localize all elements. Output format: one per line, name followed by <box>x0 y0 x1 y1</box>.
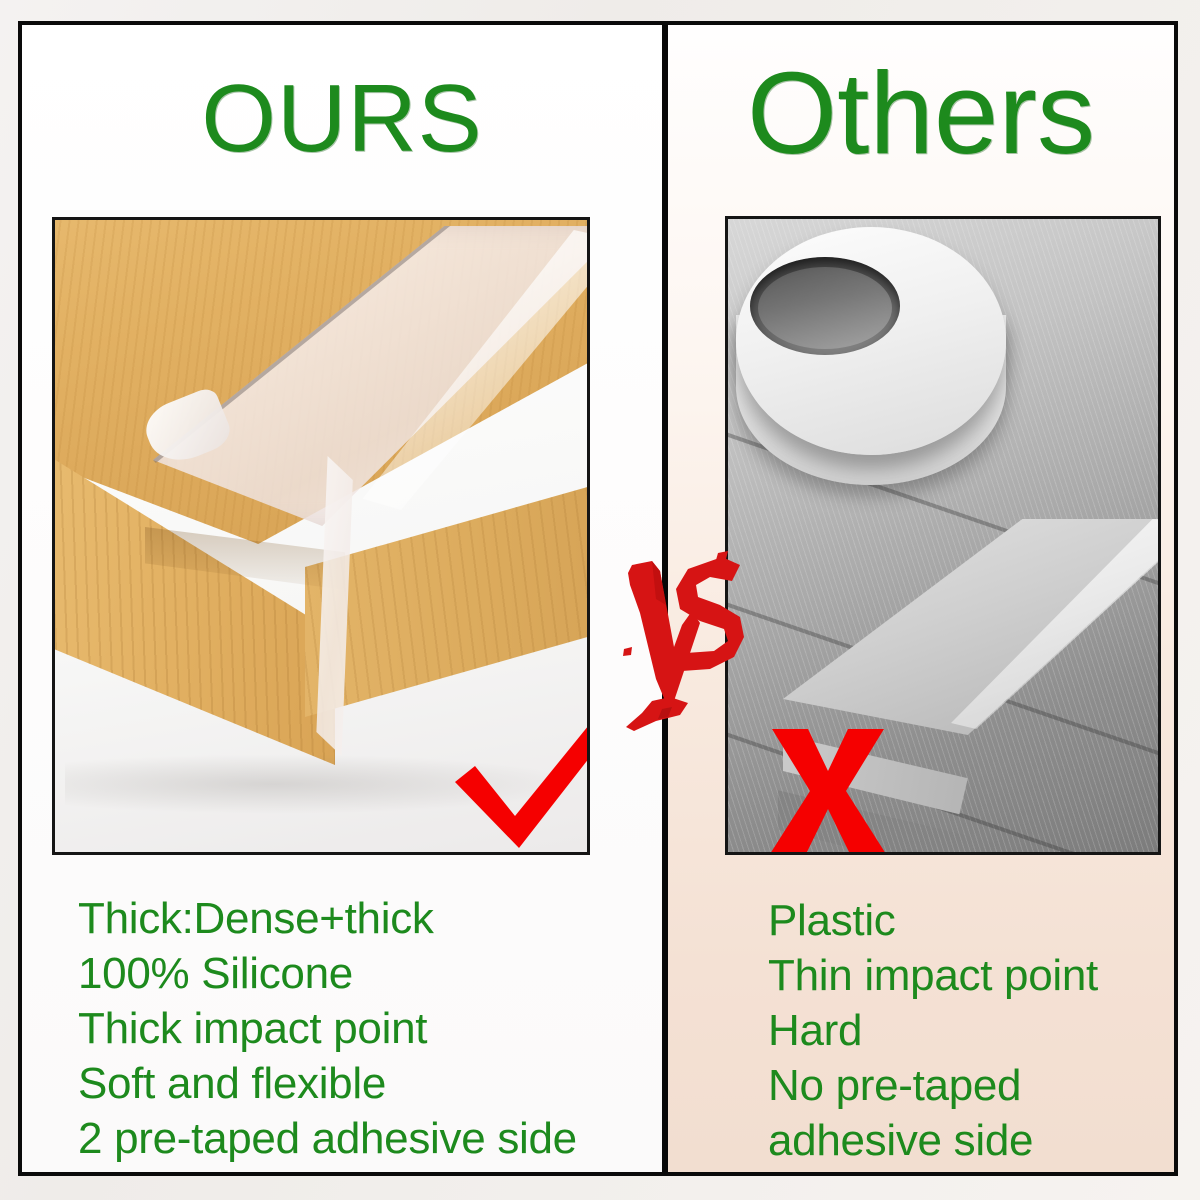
panel-ours: OURS Thick:Dense+thick 100% Sili <box>22 25 662 1172</box>
feature-item: 100% Silicone <box>78 946 577 1001</box>
feature-item: Thick:Dense+thick <box>78 891 577 946</box>
ours-product-photo <box>52 217 590 855</box>
feature-item: Thin impact point <box>768 948 1098 1003</box>
feature-item: adhesive side <box>768 1113 1098 1168</box>
comparison-infographic: OURS Thick:Dense+thick 100% Sili <box>0 0 1200 1200</box>
others-product-photo <box>725 216 1161 855</box>
others-title: Others <box>668 55 1174 171</box>
feature-item: Thick impact point <box>78 1001 577 1056</box>
others-feature-list: Plastic Thin impact point Hard No pre-ta… <box>768 893 1098 1168</box>
feature-item: No pre-taped <box>768 1058 1098 1113</box>
tape-roll-core-rim <box>758 267 892 349</box>
panel-divider <box>662 25 668 1172</box>
outer-frame: OURS Thick:Dense+thick 100% Sili <box>18 21 1178 1176</box>
feature-item: 2 pre-taped adhesive side <box>78 1111 577 1166</box>
x-mark-icon <box>768 729 888 854</box>
ours-feature-list: Thick:Dense+thick 100% Silicone Thick im… <box>78 891 577 1166</box>
panel-others: Others Plastic Thin i <box>668 25 1174 1172</box>
check-mark-icon <box>453 720 590 850</box>
feature-item: Hard <box>768 1003 1098 1058</box>
feature-item: Soft and flexible <box>78 1056 577 1111</box>
ours-title: OURS <box>22 71 662 167</box>
feature-item: Plastic <box>768 893 1098 948</box>
